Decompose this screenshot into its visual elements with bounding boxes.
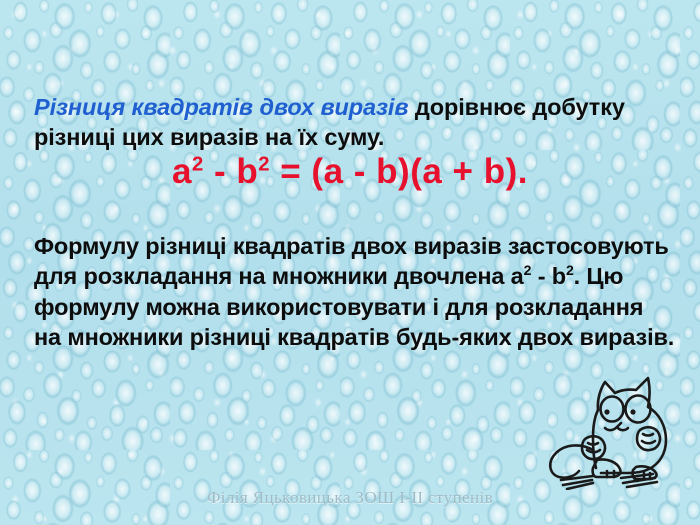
slide-canvas: Різниця квадратів двох виразів дорівнює … xyxy=(0,0,700,525)
formula-minus: - xyxy=(204,152,237,191)
formula-exponent-right: 2 xyxy=(258,153,270,175)
body-superscript-2: 2 xyxy=(566,262,574,278)
footer-school-name: Філія Яцьковицька ЗОШ I-II ступенів xyxy=(0,488,700,508)
formula-exponent-left: 2 xyxy=(192,153,204,175)
body-paragraph: Формулу різниці квадратів двох виразів з… xyxy=(34,231,676,353)
formula-base-right: b xyxy=(236,152,258,191)
formula-base-left: a xyxy=(172,152,192,191)
formula-equals-expansion: = (a - b)(a + b). xyxy=(270,152,528,191)
cartoon-cat-icon xyxy=(493,368,675,490)
body-part-2: - b xyxy=(531,263,566,289)
intro-paragraph: Різниця квадратів двох виразів дорівнює … xyxy=(34,92,674,152)
formula-difference-of-squares: a2 - b2 = (a - b)(a + b). xyxy=(0,150,700,194)
highlighted-term: Різниця квадратів двох виразів xyxy=(34,94,408,120)
